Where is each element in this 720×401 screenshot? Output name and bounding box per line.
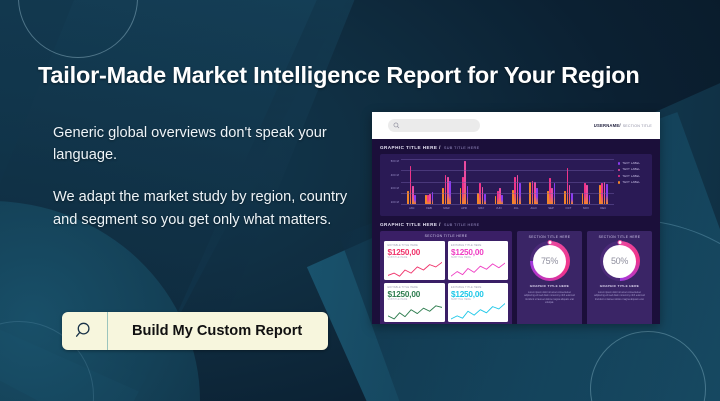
chart-bar[interactable]: [571, 193, 573, 204]
gauge-2-ring: 50%: [600, 241, 640, 281]
legend-color-dot: [618, 175, 620, 177]
stat-card-value: $1250,00: [451, 290, 505, 299]
chart-gridline: [401, 182, 614, 183]
stat-cards-header: SECTION TITLE HERE: [384, 234, 508, 238]
magnifier-icon: [62, 312, 108, 350]
chart-bar[interactable]: [586, 185, 588, 204]
dashboard-preview[interactable]: USERNAME/ SECTION TITLE GRAPHIC TITLE HE…: [372, 112, 660, 324]
chart-bar[interactable]: [501, 195, 503, 204]
chart-bar[interactable]: [536, 188, 538, 204]
stat-cards-panel: SECTION TITLE HERE EDITABLE TITLE HERE$1…: [380, 231, 512, 324]
gauge-2-knob: [617, 240, 622, 245]
stat-card-sparkline: [388, 260, 442, 279]
chart-x-tick: AGO: [525, 207, 542, 214]
stat-card-sparkline: [451, 260, 505, 279]
chart-x-tick: JAN: [403, 207, 420, 214]
username-label: USERNAME/: [594, 123, 621, 128]
chart-x-tick: MAY: [473, 207, 490, 214]
stats-panel-header: GRAPHIC TITLE HERE / SUB TITLE HERE: [380, 222, 652, 227]
body-copy: Generic global overviews don't speak you…: [53, 122, 363, 231]
gauge-panel-1[interactable]: SECTION TITLE HERE 75% GRAPHIC TITLE HER…: [517, 231, 582, 324]
gauge-1-knob: [547, 240, 552, 245]
gauge-1-caption: GRAPHIC TITLE HERE: [530, 284, 569, 288]
gauge-1-inner: 75%: [533, 245, 566, 278]
stat-card-sparkline: [388, 302, 442, 321]
chart-bar[interactable]: [414, 195, 416, 204]
gauge-1-percent: 75%: [541, 256, 558, 266]
chart-panel-header: GRAPHIC TITLE HERE / SUB TITLE HERE: [380, 145, 652, 150]
chart-y-tick: 200 M: [391, 187, 399, 190]
chart-bar[interactable]: [495, 196, 497, 204]
chart-x-tick: DEC: [595, 207, 612, 214]
gauge-1-body: Lorem ipsum dolor sit amet consectetuer …: [521, 291, 578, 305]
gauge-2-body: Lorem ipsum dolor sit amet consectetuer …: [591, 291, 648, 302]
stat-card-value: $1250,00: [388, 290, 442, 299]
stats-section: GRAPHIC TITLE HERE / SUB TITLE HERE SECT…: [380, 222, 652, 324]
stat-card[interactable]: EDITABLE TITLE HERE$1250,00SUBTITLE HERE: [384, 283, 445, 322]
dashboard-user-meta[interactable]: USERNAME/ SECTION TITLE: [594, 123, 652, 128]
paragraph-2: We adapt the market study by region, cou…: [53, 186, 363, 230]
build-my-custom-report-button[interactable]: Build My Custom Report: [62, 312, 328, 350]
gauge-2-percent: 50%: [611, 256, 628, 266]
stat-cards-grid: EDITABLE TITLE HERE$1250,00SUBTITLE HERE…: [384, 241, 508, 322]
dashboard-topbar: USERNAME/ SECTION TITLE: [372, 112, 660, 139]
legend-color-dot: [618, 162, 620, 164]
chart-legend-item[interactable]: TEXT LABEL: [618, 168, 648, 171]
stat-card-subtitle: SUBTITLE HERE: [451, 257, 505, 259]
chart-bar[interactable]: [484, 194, 486, 204]
stat-card-subtitle: SUBTITLE HERE: [388, 257, 442, 259]
chart-x-tick: OCT: [560, 207, 577, 214]
chart-legend-item[interactable]: TEXT LABEL: [618, 175, 648, 178]
chart-legend: TEXT LABELTEXT LABELTEXT LABELTEXT LABEL: [614, 159, 648, 213]
chart-y-axis: 500 M400 M200 M100 M: [384, 159, 401, 213]
stats-panel-title: GRAPHIC TITLE HERE /: [380, 222, 441, 227]
gauge-1-header: SECTION TITLE HERE: [529, 235, 571, 239]
paragraph-1: Generic global overviews don't speak you…: [53, 122, 363, 166]
chart-x-tick: NOV: [577, 207, 594, 214]
bar-chart-card[interactable]: 500 M400 M200 M100 M JANFEBMARAPRMAYJUNJ…: [380, 154, 652, 216]
chart-x-tick: SEP: [542, 207, 559, 214]
chart-bar[interactable]: [442, 188, 444, 204]
chart-legend-item[interactable]: TEXT LABEL: [618, 162, 648, 165]
chart-bar[interactable]: [567, 168, 569, 204]
legend-label: TEXT LABEL: [622, 168, 640, 171]
section-title-label: SECTION TITLE: [623, 124, 652, 128]
chart-x-tick: FEB: [420, 207, 437, 214]
chart-gridline: [401, 193, 614, 194]
gauge-2-inner: 50%: [603, 245, 636, 278]
legend-label: TEXT LABEL: [622, 162, 640, 165]
stat-card-subtitle: SUBTITLE HERE: [388, 299, 442, 301]
dashboard-search-input[interactable]: [388, 119, 480, 132]
chart-x-tick: JUN: [490, 207, 507, 214]
slide-root: Tailor-Made Market Intelligence Report f…: [0, 0, 720, 401]
legend-label: TEXT LABEL: [622, 181, 640, 184]
chart-bar[interactable]: [551, 188, 553, 204]
gauge-2-header: SECTION TITLE HERE: [599, 235, 641, 239]
chart-panel-title: GRAPHIC TITLE HERE /: [380, 145, 441, 150]
chart-bar[interactable]: [517, 175, 519, 204]
stat-card[interactable]: EDITABLE TITLE HERE$1250,00SUBTITLE HERE: [384, 241, 445, 280]
legend-label: TEXT LABEL: [622, 175, 640, 178]
chart-x-tick: MAR: [438, 207, 455, 214]
legend-color-dot: [618, 181, 620, 183]
stat-card[interactable]: EDITABLE TITLE HERE$1250,00SUBTITLE HERE: [448, 241, 509, 280]
stat-card-value: $1250,00: [451, 248, 505, 257]
chart-y-tick: 500 M: [391, 160, 399, 163]
chart-gridline: [401, 159, 614, 160]
search-icon: [393, 122, 400, 129]
chart-x-tick: APR: [455, 207, 472, 214]
chart-bar[interactable]: [467, 186, 469, 204]
chart-bar[interactable]: [429, 194, 431, 204]
chart-panel-subtitle: SUB TITLE HERE: [444, 146, 480, 150]
chart-bar[interactable]: [589, 195, 591, 204]
bar-chart-plot: 500 M400 M200 M100 M JANFEBMARAPRMAYJUNJ…: [384, 159, 614, 213]
chart-gridline: [401, 170, 614, 171]
chart-gridlines: [401, 159, 614, 205]
dashboard-body: GRAPHIC TITLE HERE / SUB TITLE HERE 500 …: [372, 139, 660, 324]
chart-plot-area: JANFEBMARAPRMAYJUNJULAGOSEPOCTNOVDEC: [401, 159, 614, 213]
page-title: Tailor-Made Market Intelligence Report f…: [38, 62, 678, 89]
stats-panel-subtitle: SUB TITLE HERE: [444, 223, 480, 227]
cta-label: Build My Custom Report: [108, 312, 328, 350]
gauge-panel-2[interactable]: SECTION TITLE HERE 50% GRAPHIC TITLE HER…: [587, 231, 652, 324]
stat-card[interactable]: EDITABLE TITLE HERE$1250,00SUBTITLE HERE: [448, 283, 509, 322]
stat-card-value: $1250,00: [388, 248, 442, 257]
chart-y-tick: 100 M: [391, 201, 399, 204]
chart-bar[interactable]: [445, 175, 447, 204]
chart-x-tick: JUL: [508, 207, 525, 214]
gauge-1-ring: 75%: [530, 241, 570, 281]
chart-y-tick: 400 M: [391, 174, 399, 177]
gauge-2-caption: GRAPHIC TITLE HERE: [600, 284, 639, 288]
legend-color-dot: [618, 169, 620, 171]
stat-card-sparkline: [451, 302, 505, 321]
chart-bar[interactable]: [432, 192, 434, 204]
chart-bar[interactable]: [606, 184, 608, 204]
chart-x-axis: JANFEBMARAPRMAYJUNJULAGOSEPOCTNOVDEC: [401, 205, 614, 213]
stat-card-subtitle: SUBTITLE HERE: [451, 299, 505, 301]
chart-legend-item[interactable]: TEXT LABEL: [618, 181, 648, 184]
stats-row: SECTION TITLE HERE EDITABLE TITLE HERE$1…: [380, 231, 652, 324]
